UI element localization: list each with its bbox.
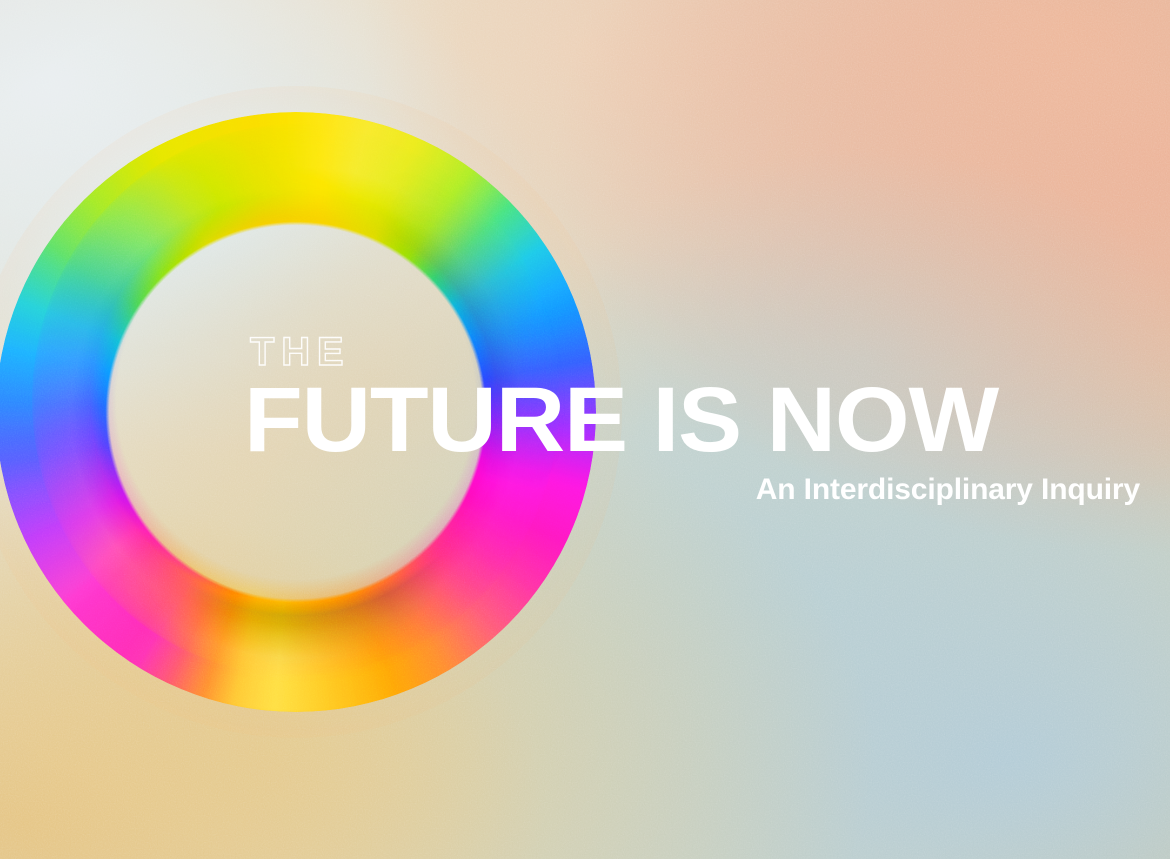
headline-block: THE FUTURE IS NOW An Interdisciplinary I… (244, 332, 1148, 506)
eyebrow-text: THE (250, 332, 1148, 372)
subtitle-text: An Interdisciplinary Inquiry (244, 473, 1148, 506)
page-title: FUTURE IS NOW (244, 382, 1170, 459)
poster-canvas: THE FUTURE IS NOW An Interdisciplinary I… (0, 0, 1170, 859)
